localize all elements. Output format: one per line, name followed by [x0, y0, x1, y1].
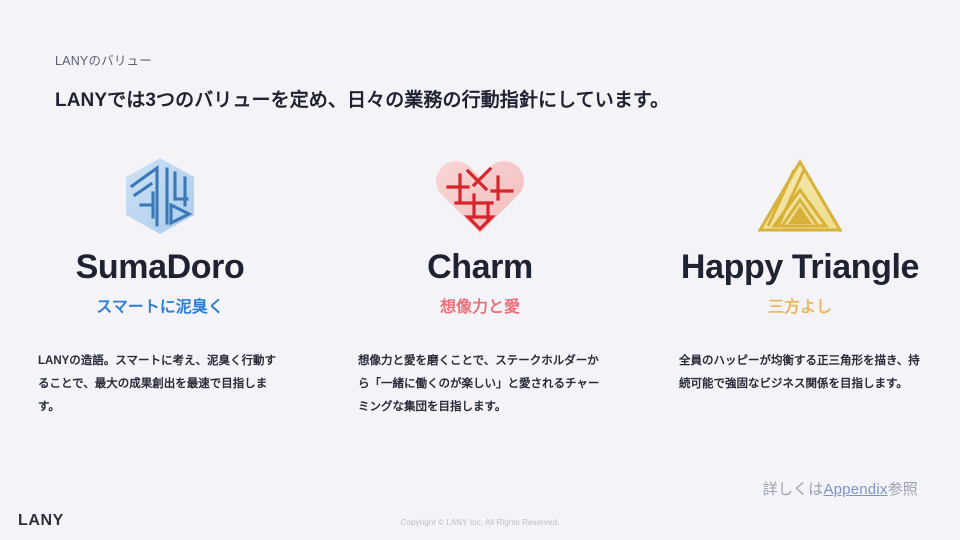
value-card-happy-triangle: Happy Triangle 三方よし 全員のハッピーが均衡する正三角形を描き、…	[640, 150, 960, 419]
appendix-link[interactable]: Appendix	[823, 481, 887, 498]
value-title: Happy Triangle	[681, 250, 919, 284]
value-subtitle: 想像力と愛	[440, 300, 520, 316]
heart-lineart-icon	[434, 150, 526, 242]
value-subtitle: スマートに泥臭く	[96, 300, 224, 316]
appendix-prefix: 詳しくは	[763, 481, 824, 498]
nested-triangle-icon	[756, 150, 844, 242]
copyright-text: Copyright © LANY Inc. All Rights Reserve…	[0, 518, 960, 527]
values-columns: SumaDoro スマートに泥臭く LANYの造語。スマートに考え、泥臭く行動す…	[0, 150, 960, 419]
eyebrow-label: LANYのバリュー	[55, 50, 152, 69]
appendix-suffix: 参照	[888, 481, 918, 498]
slide-root: LANYのバリュー LANYでは3つのバリューを定め、日々の業務の行動指針にして…	[0, 0, 960, 540]
value-title: Charm	[427, 250, 533, 284]
hexagon-lineart-icon	[117, 150, 203, 242]
value-card-charm: Charm 想像力と愛 想像力と愛を磨くことで、ステークホルダーから「一緒に働く…	[320, 150, 640, 419]
page-title: LANYでは3つのバリューを定め、日々の業務の行動指針にしています。	[55, 85, 669, 112]
value-description: 想像力と愛を磨くことで、ステークホルダーから「一緒に働くのが楽しい」と愛されるチ…	[358, 350, 606, 419]
value-card-sumadoro: SumaDoro スマートに泥臭く LANYの造語。スマートに考え、泥臭く行動す…	[0, 150, 320, 419]
value-description: 全員のハッピーが均衡する正三角形を描き、持続可能で強固なビジネス関係を目指します…	[679, 350, 927, 396]
value-description: LANYの造語。スマートに考え、泥臭く行動することで、最大の成果創出を最速で目指…	[38, 350, 286, 419]
value-subtitle: 三方よし	[768, 300, 832, 316]
value-title: SumaDoro	[76, 250, 245, 284]
appendix-note: 詳しくはAppendix参照	[763, 478, 918, 499]
